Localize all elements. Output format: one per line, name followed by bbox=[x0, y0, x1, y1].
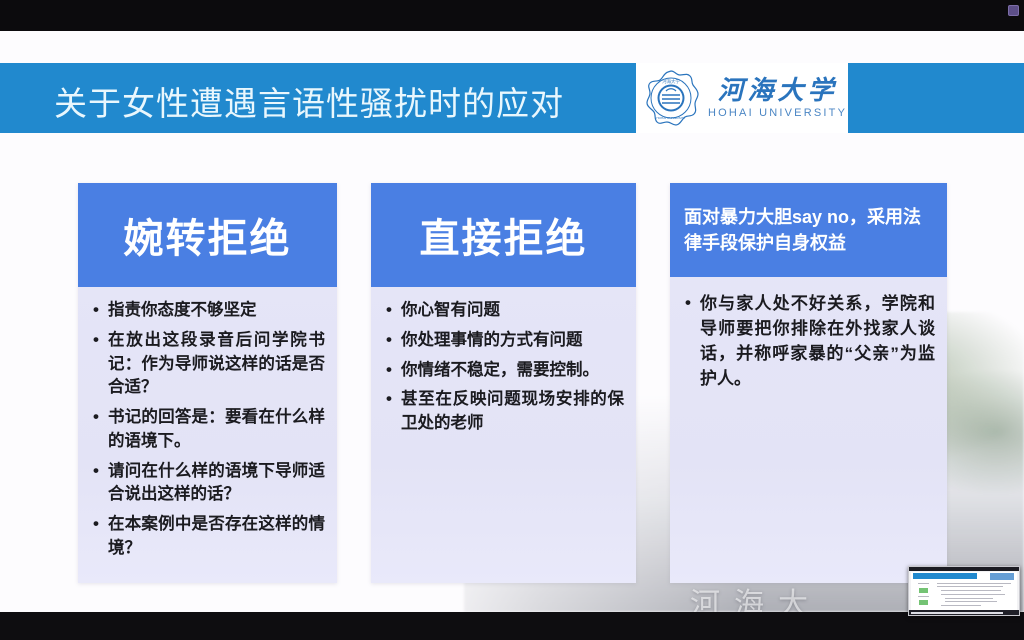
card-1-header-text: 婉转拒绝 bbox=[124, 206, 292, 264]
list-item: 你情绪不稳定，需要控制。 bbox=[385, 359, 624, 383]
calligraphy-watermark: 河海大 bbox=[690, 579, 822, 612]
pip-slide-preview bbox=[911, 572, 1017, 610]
pip-top-bar bbox=[909, 567, 1019, 571]
pip-highlight-block bbox=[919, 588, 928, 593]
card-1-body: 指责你态度不够坚定 在放出这段录音后问学院书记：作为导师说这样的话是否合适？ 书… bbox=[78, 287, 337, 567]
list-item: 指责你态度不够坚定 bbox=[92, 299, 325, 323]
list-item: 在放出这段录音后问学院书记：作为导师说这样的话是否合适？ bbox=[92, 329, 325, 400]
card-3-body: 你与家人处不好关系，学院和导师要把你排除在外找家人谈话，并称呼家暴的“父亲”为监… bbox=[670, 277, 947, 398]
card-2-bullet-list: 你心智有问题 你处理事情的方式有问题 你情绪不稳定，需要控制。 甚至在反映问题现… bbox=[385, 299, 624, 436]
status-indicator-dot bbox=[1008, 5, 1019, 16]
content-card-1: 婉转拒绝 指责你态度不够坚定 在放出这段录音后问学院书记：作为导师说这样的话是否… bbox=[78, 183, 337, 583]
university-seal-icon: 河海大学 HOHAI UNIVERSITY bbox=[642, 69, 700, 127]
svg-text:河海大学: 河海大学 bbox=[662, 78, 680, 85]
university-logo: 河海大学 HOHAI UNIVERSITY 河海大学 HOHAI UNIVERS… bbox=[636, 63, 848, 133]
pip-text-line bbox=[937, 583, 1011, 584]
logo-wordmark: 河海大学 HOHAI UNIVERSITY bbox=[708, 78, 847, 119]
card-1-bullet-list: 指责你态度不够坚定 在放出这段录音后问学院书记：作为导师说这样的话是否合适？ 书… bbox=[92, 299, 325, 561]
content-card-2: 直接拒绝 你心智有问题 你处理事情的方式有问题 你情绪不稳定，需要控制。 甚至在… bbox=[371, 183, 636, 583]
card-1-header: 婉转拒绝 bbox=[78, 183, 337, 287]
list-item: 你与家人处不好关系，学院和导师要把你排除在外找家人谈话，并称呼家暴的“父亲”为监… bbox=[684, 291, 935, 392]
card-3-header: 面对暴力大胆say no，采用法律手段保护自身权益 bbox=[670, 183, 947, 277]
list-item: 甚至在反映问题现场安排的保卫处的老师 bbox=[385, 388, 624, 436]
card-2-header: 直接拒绝 bbox=[371, 183, 636, 287]
picture-in-picture-thumbnail[interactable] bbox=[908, 566, 1020, 616]
pip-text-line bbox=[918, 583, 929, 584]
pip-text-line bbox=[941, 590, 1001, 591]
list-item: 你心智有问题 bbox=[385, 299, 624, 323]
pip-title-bar bbox=[913, 573, 977, 579]
logo-english-name: HOHAI UNIVERSITY bbox=[708, 108, 847, 119]
screen-recording-frame: 河海大 关于女性遭遇言语性骚扰时的应对 河海大学 HOHAI UNIVERSIT… bbox=[0, 0, 1024, 640]
pip-text-line bbox=[941, 594, 1005, 595]
list-item: 你处理事情的方式有问题 bbox=[385, 329, 624, 353]
content-card-3: 面对暴力大胆say no，采用法律手段保护自身权益 你与家人处不好关系，学院和导… bbox=[670, 183, 947, 583]
pip-text-line bbox=[937, 586, 1003, 587]
pip-text-line bbox=[945, 598, 993, 599]
list-item: 在本案例中是否存在这样的情境？ bbox=[92, 513, 325, 561]
letterbox-top bbox=[0, 0, 1024, 31]
svg-text:HOHAI UNIVERSITY: HOHAI UNIVERSITY bbox=[656, 116, 685, 120]
pip-logo bbox=[990, 573, 1014, 580]
pip-text-line bbox=[945, 601, 997, 602]
list-item: 书记的回答是：要看在什么样的语境下。 bbox=[92, 406, 325, 454]
pip-progress-bar[interactable] bbox=[911, 612, 1003, 614]
card-2-body: 你心智有问题 你处理事情的方式有问题 你情绪不稳定，需要控制。 甚至在反映问题现… bbox=[371, 287, 636, 442]
presentation-slide: 河海大 关于女性遭遇言语性骚扰时的应对 河海大学 HOHAI UNIVERSIT… bbox=[0, 31, 1024, 612]
list-item: 请问在什么样的语境下导师适合说出这样的话？ bbox=[92, 460, 325, 508]
card-3-bullet-list: 你与家人处不好关系，学院和导师要把你排除在外找家人谈话，并称呼家暴的“父亲”为监… bbox=[684, 291, 935, 392]
logo-chinese-name: 河海大学 bbox=[718, 78, 838, 104]
card-3-header-text: 面对暴力大胆say no，采用法律手段保护自身权益 bbox=[684, 204, 933, 256]
card-2-header-text: 直接拒绝 bbox=[420, 206, 588, 264]
pip-text-line bbox=[941, 605, 981, 606]
page-title: 关于女性遭遇言语性骚扰时的应对 bbox=[54, 77, 564, 125]
pip-text-line bbox=[918, 596, 929, 597]
pip-highlight-block bbox=[919, 600, 928, 605]
letterbox-bottom bbox=[0, 612, 1024, 640]
